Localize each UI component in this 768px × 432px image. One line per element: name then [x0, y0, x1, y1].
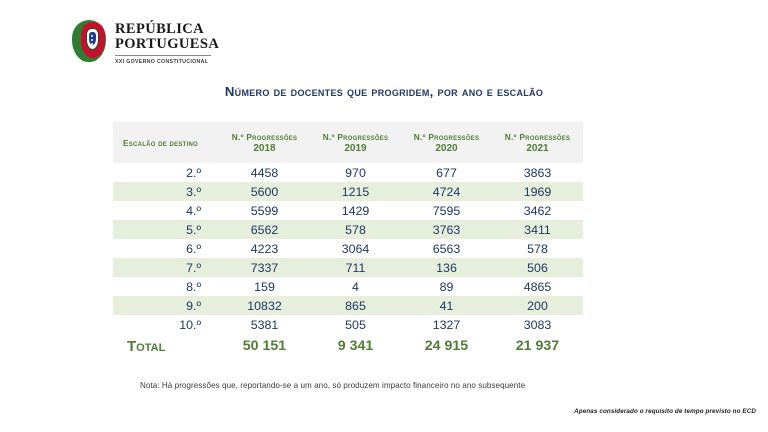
cell-2021: 1969	[492, 182, 583, 201]
table-header: Escalão de destino N.º Progressões 2018 …	[113, 122, 583, 163]
cell-escalao: 6.º	[113, 239, 219, 258]
column-header-2018-year: 2018	[219, 143, 310, 154]
cell-2020: 6563	[401, 239, 492, 258]
logo-line-2: PORTUGUESA	[115, 37, 219, 52]
cell-total-2020: 24 915	[401, 334, 492, 358]
cell-escalao: 10.º	[113, 315, 219, 334]
cell-2021: 3411	[492, 220, 583, 239]
cell-2020: 41	[401, 296, 492, 315]
column-header-2019-label: N.º Progressões	[323, 132, 389, 142]
cell-escalao: 9.º	[113, 296, 219, 315]
table-row: 3.º 5600 1215 4724 1969	[113, 182, 583, 201]
cell-2019: 578	[310, 220, 401, 239]
column-header-escalao: Escalão de destino	[113, 122, 219, 163]
table-note: Nota: Há progressões que, reportando-se …	[140, 381, 525, 390]
column-header-2019-year: 2019	[310, 143, 401, 154]
cell-2020: 89	[401, 277, 492, 296]
table-row: 2.º 4458 970 677 3863	[113, 163, 583, 182]
republica-portuguesa-logo: REPÚBLICA PORTUGUESA XXI GOVERNO CONSTIT…	[72, 20, 219, 65]
table-row: 8.º 159 4 89 4865	[113, 277, 583, 296]
cell-total-2021: 21 937	[492, 334, 583, 358]
table-row: 5.º 6562 578 3763 3411	[113, 220, 583, 239]
column-header-2020: N.º Progressões 2020	[401, 122, 492, 163]
cell-2020: 677	[401, 163, 492, 182]
cell-2021: 578	[492, 239, 583, 258]
cell-2020: 7595	[401, 201, 492, 220]
column-header-2019: N.º Progressões 2019	[310, 122, 401, 163]
table-row: 6.º 4223 3064 6563 578	[113, 239, 583, 258]
cell-2019: 970	[310, 163, 401, 182]
cell-2018: 7337	[219, 258, 310, 277]
column-header-2018-label: N.º Progressões	[232, 132, 298, 142]
cell-2020: 4724	[401, 182, 492, 201]
cell-2018: 6562	[219, 220, 310, 239]
column-header-escalao-label: Escalão de destino	[123, 138, 198, 148]
cell-2021: 3462	[492, 201, 583, 220]
cell-2018: 4458	[219, 163, 310, 182]
table-row: 4.º 5599 1429 7595 3462	[113, 201, 583, 220]
cell-2020: 1327	[401, 315, 492, 334]
cell-2019: 1429	[310, 201, 401, 220]
table-total-row: Total 50 151 9 341 24 915 21 937	[113, 334, 583, 358]
cell-2021: 3863	[492, 163, 583, 182]
cell-2019: 4	[310, 277, 401, 296]
cell-total-label: Total	[113, 334, 219, 358]
cell-escalao: 2.º	[113, 163, 219, 182]
column-header-2018: N.º Progressões 2018	[219, 122, 310, 163]
portugal-coat-of-arms-shield-icon	[72, 20, 106, 64]
column-header-2021-year: 2021	[492, 143, 583, 154]
cell-escalao: 4.º	[113, 201, 219, 220]
cell-2020: 136	[401, 258, 492, 277]
cell-2021: 4865	[492, 277, 583, 296]
column-header-2021: N.º Progressões 2021	[492, 122, 583, 163]
table-row: 7.º 7337 711 136 506	[113, 258, 583, 277]
table-body: 2.º 4458 970 677 3863 3.º 5600 1215 4724…	[113, 163, 583, 358]
cell-total-2018: 50 151	[219, 334, 310, 358]
progressions-table: Escalão de destino N.º Progressões 2018 …	[113, 122, 583, 358]
cell-2018: 5599	[219, 201, 310, 220]
cell-2018: 4223	[219, 239, 310, 258]
cell-2018: 10832	[219, 296, 310, 315]
cell-2018: 5381	[219, 315, 310, 334]
page-title: Número de docentes que progridem, por an…	[0, 84, 768, 99]
slide-footnote: Apenas considerado o requisito de tempo …	[574, 408, 756, 415]
logo-line-1: REPÚBLICA	[115, 22, 219, 37]
cell-2021: 200	[492, 296, 583, 315]
cell-2019: 1215	[310, 182, 401, 201]
logo-wordmark: REPÚBLICA PORTUGUESA XXI GOVERNO CONSTIT…	[115, 20, 219, 65]
column-header-2021-label: N.º Progressões	[505, 132, 571, 142]
cell-2019: 505	[310, 315, 401, 334]
cell-2019: 711	[310, 258, 401, 277]
cell-total-2019: 9 341	[310, 334, 401, 358]
logo-subtitle: XXI GOVERNO CONSTITUCIONAL	[115, 59, 219, 65]
cell-2019: 865	[310, 296, 401, 315]
cell-2018: 5600	[219, 182, 310, 201]
cell-2021: 506	[492, 258, 583, 277]
logo-divider	[115, 55, 211, 56]
cell-escalao: 3.º	[113, 182, 219, 201]
table-header-row: Escalão de destino N.º Progressões 2018 …	[113, 122, 583, 163]
table-row: 10.º 5381 505 1327 3083	[113, 315, 583, 334]
cell-2020: 3763	[401, 220, 492, 239]
column-header-2020-year: 2020	[401, 143, 492, 154]
cell-escalao: 7.º	[113, 258, 219, 277]
column-header-2020-label: N.º Progressões	[414, 132, 480, 142]
cell-escalao: 8.º	[113, 277, 219, 296]
cell-2018: 159	[219, 277, 310, 296]
cell-escalao: 5.º	[113, 220, 219, 239]
table-row: 9.º 10832 865 41 200	[113, 296, 583, 315]
cell-2021: 3083	[492, 315, 583, 334]
cell-2019: 3064	[310, 239, 401, 258]
